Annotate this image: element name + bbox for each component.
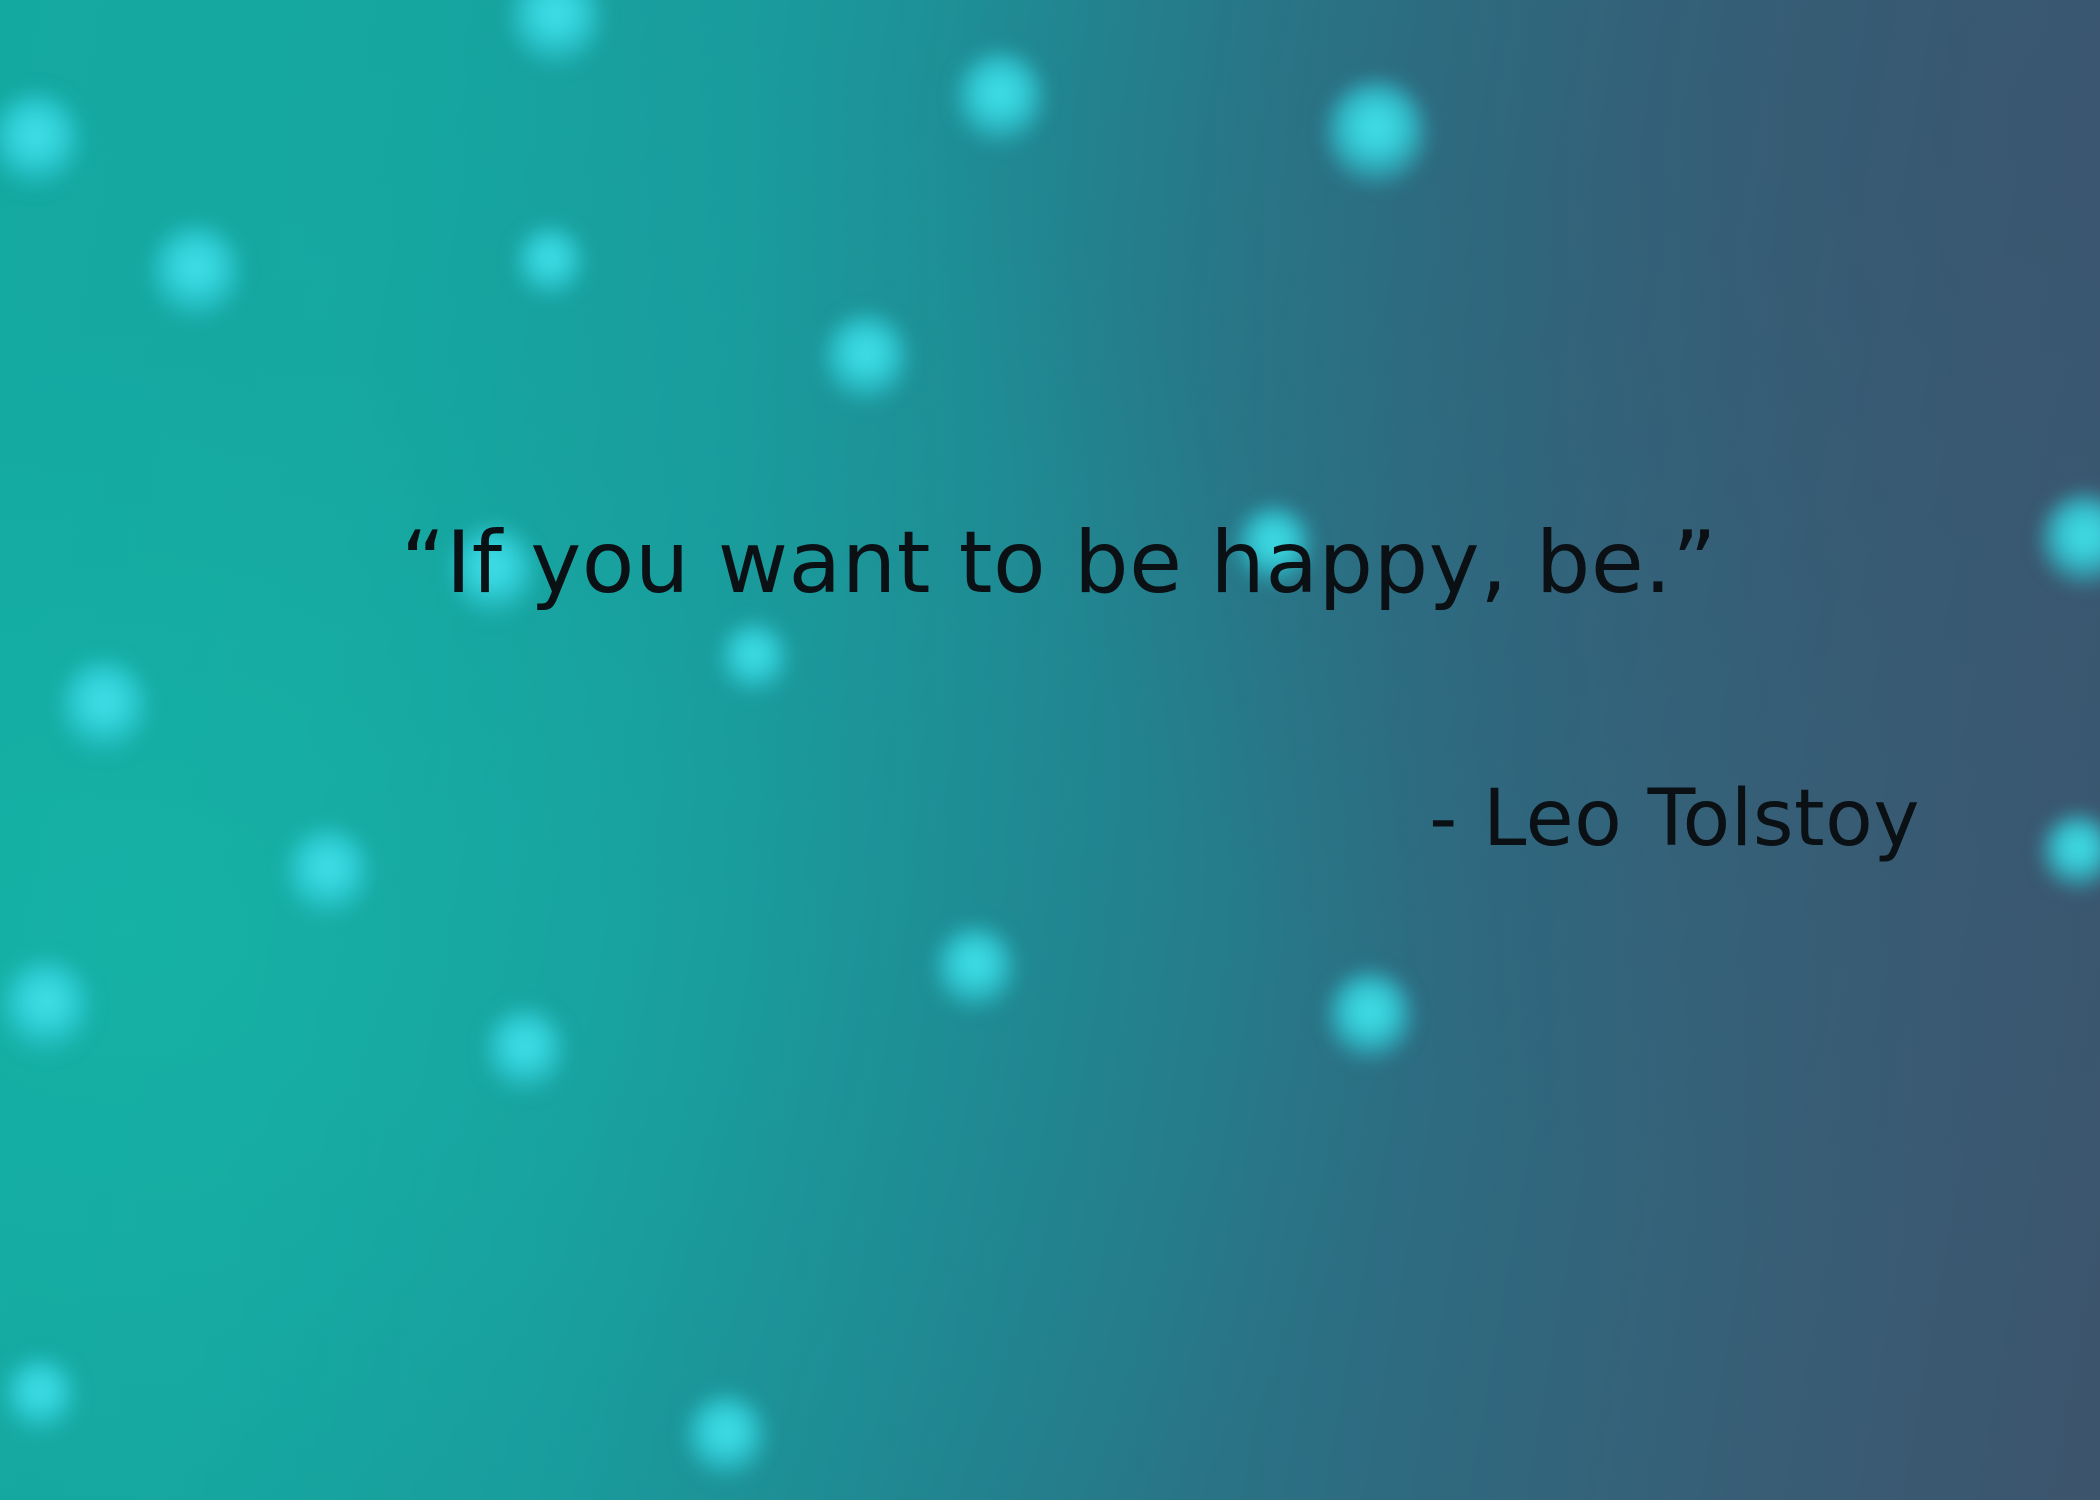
quote-text: “If you want to be happy, be.” <box>0 520 2100 606</box>
quote-text-block: “If you want to be happy, be.” - Leo Tol… <box>0 0 2100 1500</box>
quote-attribution: - Leo Tolstoy <box>0 780 2100 858</box>
quote-card: “If you want to be happy, be.” - Leo Tol… <box>0 0 2100 1500</box>
